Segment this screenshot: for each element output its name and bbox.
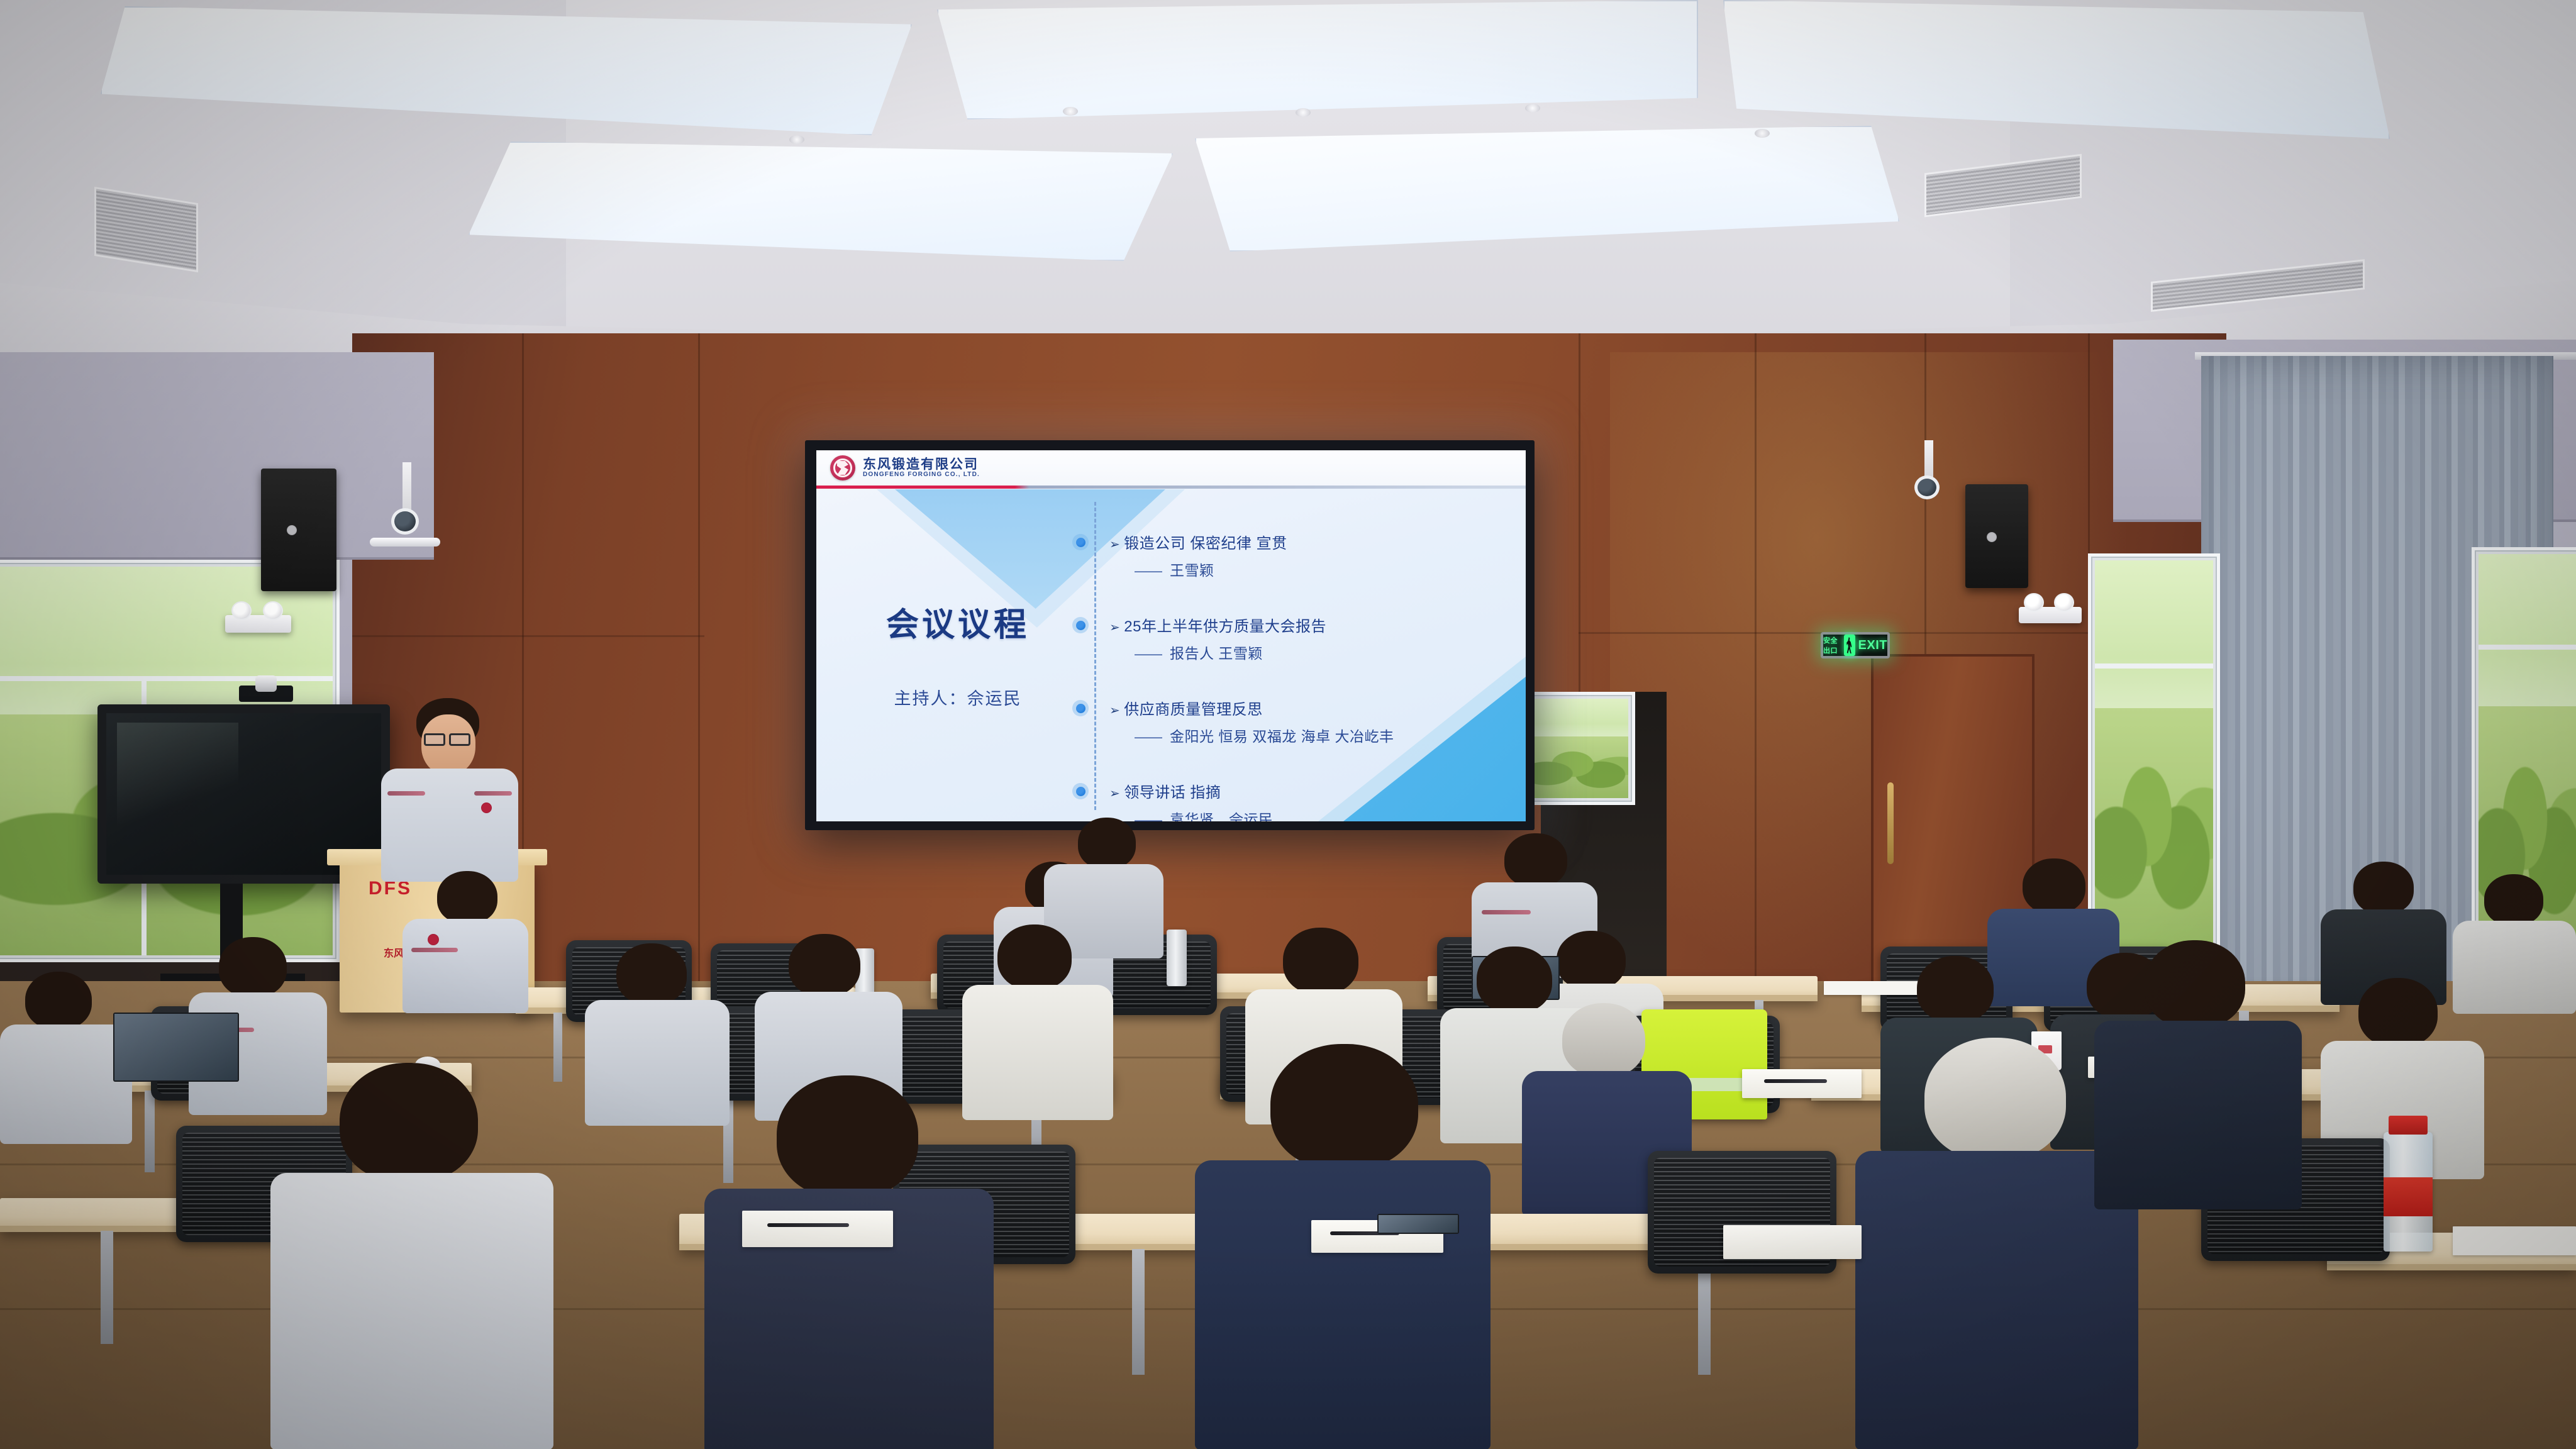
notebook-icon: [1742, 1069, 1862, 1098]
desk-leg: [145, 1091, 155, 1172]
attendee-head: [1270, 1044, 1418, 1170]
bottle-label: [2384, 1177, 2433, 1216]
water-bottle-icon: [2384, 1132, 2433, 1252]
agenda-dash: ——: [1135, 728, 1161, 745]
attendee: [2094, 940, 2302, 1204]
phone-icon[interactable]: [1377, 1214, 1459, 1234]
uniform-stripe: [411, 948, 458, 952]
attendee-shirt: [2094, 1021, 2302, 1209]
attendee-head: [1078, 818, 1136, 869]
agenda-bullet-icon: [1072, 700, 1089, 716]
uniform-stripe: [387, 791, 425, 796]
wall-seam: [1755, 333, 1757, 1000]
attendee-head: [25, 972, 92, 1030]
uniform-badge-icon: [428, 934, 439, 945]
agenda-presenter: 报告人 王雪颖: [1170, 645, 1263, 662]
agenda-presenter-row: ——袁华贤、佘运民: [1135, 808, 1483, 821]
notebook-icon: [742, 1211, 893, 1247]
meeting-room-photo: 安全出口 EXIT 东风锻造有限公司 DONGFENG FORGING CO.,…: [0, 0, 2576, 1449]
paper-sheet: [2453, 1226, 2576, 1255]
attendee-head: [219, 937, 287, 997]
agenda-presenter-row: ——王雪颖: [1135, 558, 1483, 580]
agenda-marker-icon: ➢: [1109, 621, 1120, 635]
camera-mount: [402, 462, 411, 513]
emergency-light-icon: [225, 615, 291, 633]
attendee-head-gray-hair: [1924, 1038, 2066, 1160]
window-mullion: [0, 676, 333, 681]
agenda-item: ➢领导讲话 指摘 ——袁华贤、佘运民: [1080, 780, 1483, 821]
attendee-head: [1917, 956, 1994, 1023]
attendee-head: [2145, 940, 2245, 1028]
desk-leg: [1132, 1249, 1145, 1375]
agenda-item: ➢锻造公司 保密纪律 宣贯 ——王雪颖: [1080, 531, 1483, 580]
agenda-dash: ——: [1135, 645, 1161, 662]
glasses-icon: [424, 733, 445, 746]
exit-sign: 安全出口 EXIT: [1821, 632, 1890, 658]
agenda-topic-row: ➢25年上半年供方质量大会报告: [1109, 614, 1483, 636]
downlight-icon: [1296, 108, 1311, 117]
downlight-icon: [789, 135, 804, 144]
agenda-item: ➢供应商质量管理反思 ——金阳光 恒易 双福龙 海卓 大冶屹丰: [1080, 697, 1483, 746]
attendee-head: [1283, 928, 1358, 994]
attendee: [2321, 862, 2446, 997]
wall-seam: [698, 333, 700, 1000]
company-name-cn: 东风锻造有限公司: [863, 458, 980, 472]
agenda-bullet-icon: [1072, 783, 1089, 799]
presenter-uniform: [381, 769, 518, 882]
attendee-head-gray-hair: [1562, 1003, 1645, 1077]
agenda-topic: 领导讲话 指摘: [1124, 784, 1221, 801]
uniform-badge-icon: [481, 802, 492, 813]
attendee-head: [2353, 862, 2414, 914]
slide-title-block: 会议议程 主持人：佘运民: [854, 608, 1062, 709]
window-mullion: [2095, 663, 2213, 669]
laptop-icon[interactable]: [113, 1013, 239, 1082]
attendee-head: [2484, 874, 2543, 926]
agenda-marker-icon: ➢: [1109, 538, 1120, 552]
attendee-head: [340, 1063, 478, 1182]
foliage-outside: [1529, 736, 1628, 798]
projection-screen: 东风锻造有限公司 DONGFENG FORGING CO., LTD. 会议议程…: [805, 440, 1535, 830]
uniform-stripe: [474, 791, 512, 796]
agenda-marker-icon: ➢: [1109, 787, 1120, 801]
attendee-foreground: [704, 1075, 994, 1449]
agenda-topic: 25年上半年供方质量大会报告: [1124, 618, 1326, 635]
door-handle[interactable]: [1887, 782, 1894, 864]
speaker-icon: [1965, 484, 2028, 588]
company-name-block: 东风锻造有限公司 DONGFENG FORGING CO., LTD.: [863, 458, 980, 479]
running-man-icon: [1844, 635, 1855, 656]
ceiling-light-panel: [937, 0, 1698, 119]
dongfeng-circle-logo-icon: [830, 455, 855, 480]
agenda-dash: ——: [1135, 562, 1161, 579]
window-blind-left[interactable]: [0, 352, 434, 560]
corridor-window: [1522, 692, 1635, 805]
agenda-list: ➢锻造公司 保密纪律 宣贯 ——王雪颖 ➢25年上半年供方质量大会报告 ——报告…: [1080, 531, 1483, 821]
pen-icon: [1764, 1079, 1827, 1083]
attendee-shirt: [1195, 1160, 1491, 1449]
camera-mount: [1924, 440, 1933, 479]
ceiling-light-panel: [1195, 126, 1899, 252]
attendee: [0, 972, 132, 1135]
agenda-presenter-row: ——报告人 王雪颖: [1135, 641, 1483, 663]
tv-top-camera-icon: [239, 686, 293, 702]
attendee-uniform: [402, 919, 528, 1013]
camera-bar: [370, 538, 440, 547]
slide-title: 会议议程: [854, 608, 1062, 643]
screen-reflection: [117, 723, 238, 830]
attendee-head: [1504, 833, 1567, 887]
exit-sign-label-en: EXIT: [1858, 638, 1887, 653]
agenda-bullet-icon: [1072, 534, 1089, 550]
attendee-head: [789, 934, 860, 997]
agenda-item: ➢25年上半年供方质量大会报告 ——报告人 王雪颖: [1080, 614, 1483, 663]
attendee-head: [997, 924, 1072, 990]
bottle-cap: [2389, 1116, 2428, 1135]
attendee: [402, 871, 528, 1003]
thermos-icon: [1167, 930, 1187, 986]
agenda-presenter: 王雪颖: [1170, 562, 1214, 579]
attendee-head: [2023, 858, 2085, 914]
window-mullion: [2479, 645, 2576, 650]
desk-leg: [553, 1013, 562, 1082]
attendee-head: [437, 871, 497, 924]
downlight-icon: [1755, 129, 1770, 138]
agenda-dash: ——: [1135, 811, 1161, 821]
agenda-marker-icon: ➢: [1109, 704, 1120, 718]
agenda-bullet-icon: [1072, 617, 1089, 633]
ceiling-light-panel: [469, 142, 1173, 261]
agenda-topic-row: ➢锻造公司 保密纪律 宣贯: [1109, 531, 1483, 553]
pen-icon: [767, 1223, 849, 1227]
attendee-foreground: [270, 1063, 553, 1449]
agenda-topic-row: ➢领导讲话 指摘: [1109, 780, 1483, 802]
agenda-presenter-row: ——金阳光 恒易 双福龙 海卓 大冶屹丰: [1135, 724, 1483, 746]
agenda-topic-row: ➢供应商质量管理反思: [1109, 697, 1483, 719]
notebook-icon: [1723, 1225, 1862, 1259]
uniform-stripe: [1482, 910, 1531, 914]
slide-header: 东风锻造有限公司 DONGFENG FORGING CO., LTD.: [816, 450, 1526, 486]
slide-host-label: 主持人：佘运民: [854, 685, 1062, 709]
desk-leg: [101, 1231, 113, 1344]
window-glass: [1529, 699, 1628, 798]
emergency-light-icon: [2019, 607, 2082, 623]
slide-header-accent-bar: [816, 486, 1526, 489]
emergency-lamp-head: [2024, 593, 2044, 612]
agenda-topic: 供应商质量管理反思: [1124, 701, 1263, 718]
speaker-icon: [261, 469, 336, 591]
emergency-lamp-head: [263, 601, 283, 620]
company-name-en: DONGFENG FORGING CO., LTD.: [863, 472, 980, 479]
attendee-uniform: [270, 1173, 553, 1449]
agenda-presenter: 袁华贤、佘运民: [1170, 811, 1274, 821]
exit-sign-label-cn: 安全出口: [1823, 635, 1841, 655]
agenda-topic: 锻造公司 保密纪律 宣贯: [1124, 535, 1287, 552]
downlight-icon: [1525, 104, 1540, 113]
ceiling-camera-icon: [1914, 475, 1940, 499]
attendee-head: [777, 1075, 918, 1198]
ceiling-camera-icon: [391, 508, 419, 535]
emergency-lamp-head: [231, 601, 252, 620]
wall-seam: [352, 635, 704, 637]
presentation-slide: 东风锻造有限公司 DONGFENG FORGING CO., LTD. 会议议程…: [816, 450, 1526, 821]
podium-sublabel: 东风: [384, 945, 404, 960]
presenter: [377, 698, 522, 874]
agenda-presenter: 金阳光 恒易 双福龙 海卓 大冶屹丰: [1170, 728, 1394, 745]
downlight-icon: [1063, 107, 1078, 116]
attendee-head: [2358, 978, 2438, 1047]
attendee-uniform: [0, 1024, 132, 1144]
emergency-lamp-head: [2054, 593, 2074, 612]
attendee-head: [616, 943, 687, 1005]
glasses-icon: [449, 733, 470, 746]
